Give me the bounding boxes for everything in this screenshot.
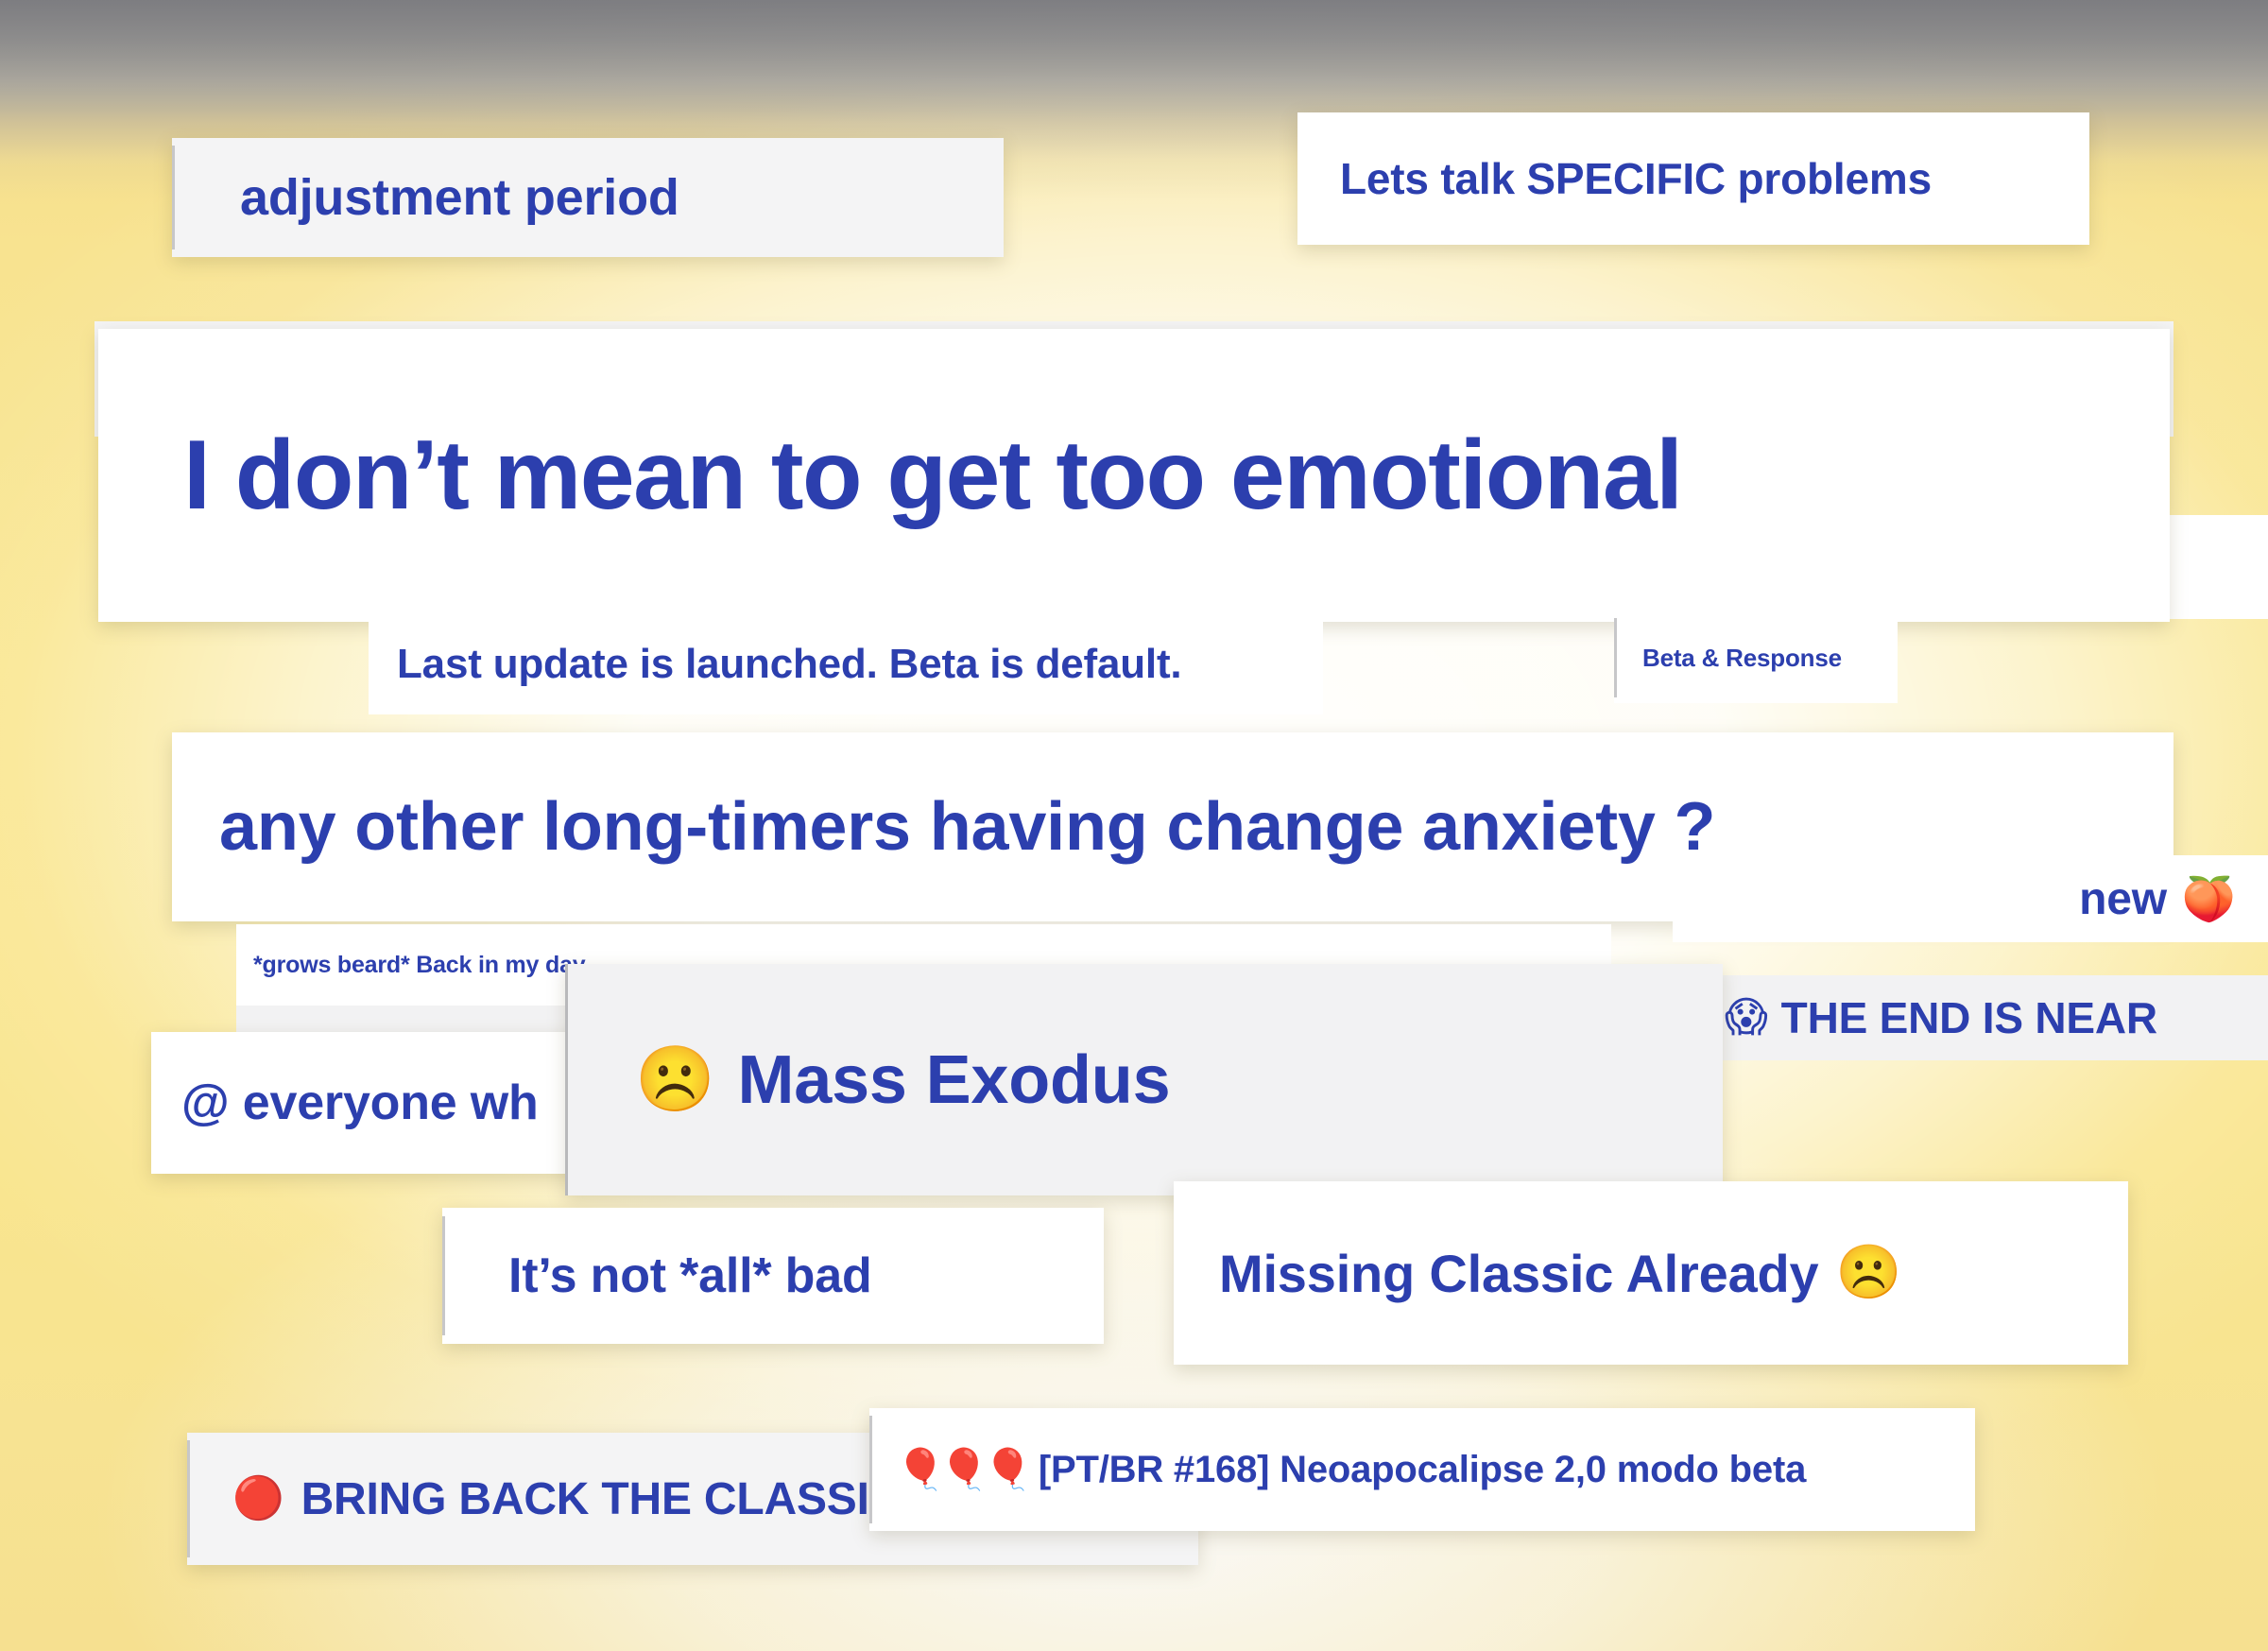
card-left-bar [1614, 618, 1617, 698]
thread-title-everyone-fragment: @ everyone wh [181, 1075, 539, 1131]
red-circle-icon: 🔴 [232, 1478, 284, 1520]
balloon-icon: 🎈🎈🎈 [896, 1450, 1027, 1489]
thread-card-adjustment-period[interactable]: adjustment period [172, 138, 1004, 257]
frowning-face-icon: ☹️ [1835, 1247, 1901, 1299]
thread-card-end-is-near[interactable]: 😱 THE END IS NEAR [1677, 975, 2268, 1060]
thread-title-new-fragment: new [2079, 873, 2167, 925]
thread-title-not-all-bad: It’s not *all* bad [508, 1247, 872, 1304]
card-left-bar [869, 1416, 872, 1523]
thread-card-too-emotional[interactable]: I don’t mean to get too emotional [98, 329, 2170, 622]
card-left-bar [565, 964, 568, 1195]
card-left-bar [172, 146, 175, 250]
thread-card-lets-talk-specific[interactable]: Lets talk SPECIFIC problems [1297, 112, 2089, 245]
thread-card-beta-response[interactable]: Beta & Response [1614, 612, 1898, 703]
thread-card-mass-exodus[interactable]: ☹️ Mass Exodus [565, 964, 1723, 1195]
thread-title-mass-exodus: Mass Exodus [737, 1041, 1170, 1119]
thread-title-neoapocalipse: [PT/BR #168] Neoapocalipse 2,0 modo beta [1039, 1449, 1806, 1491]
thread-title-grows-beard: *grows beard* Back in my day [253, 952, 585, 979]
frowning-face-icon: ☹️ [635, 1048, 714, 1112]
screenshot-collage: adjustment period Lets talk SPECIFIC pro… [0, 0, 2268, 1651]
thread-title-last-update: Last update is launched. Beta is default… [397, 641, 1181, 688]
thread-title-too-emotional: I don’t mean to get too emotional [183, 420, 1682, 532]
thread-title-missing-classic: Missing Classic Already [1219, 1243, 1818, 1304]
thread-title-beta-response: Beta & Response [1642, 644, 1842, 673]
thread-card-neoapocalipse[interactable]: 🎈🎈🎈 [PT/BR #168] Neoapocalipse 2,0 modo … [869, 1408, 1975, 1531]
thread-title-lets-talk-specific: Lets talk SPECIFIC problems [1340, 153, 1932, 204]
thread-title-change-anxiety: any other long-timers having change anxi… [219, 788, 1715, 866]
screaming-face-icon: 😱 [1725, 997, 1768, 1039]
thread-card-missing-classic[interactable]: Missing Classic Already ☹️ [1174, 1181, 2128, 1365]
card-left-bar [442, 1216, 445, 1336]
card-left-bar [187, 1440, 190, 1556]
thread-title-end-is-near: THE END IS NEAR [1781, 992, 2157, 1043]
thread-card-last-update[interactable]: Last update is launched. Beta is default… [369, 614, 1323, 714]
peach-icon: 🍑 [2182, 877, 2236, 920]
thread-title-adjustment-period: adjustment period [240, 168, 679, 227]
thread-card-new-fragment[interactable]: new 🍑 [1673, 855, 2268, 942]
thread-card-not-all-bad[interactable]: It’s not *all* bad [442, 1208, 1104, 1344]
